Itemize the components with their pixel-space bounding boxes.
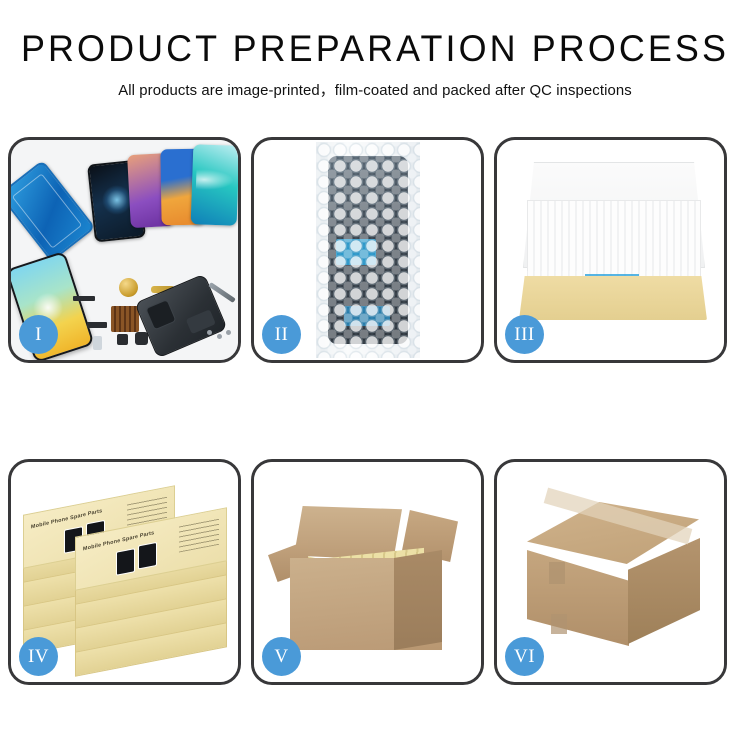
process-step-panel-3: III xyxy=(494,137,727,363)
carton-front-face xyxy=(290,558,394,650)
phone-screen-blue xyxy=(11,160,96,262)
process-step-panel-5: V xyxy=(251,459,484,685)
process-step-panel-1: I xyxy=(8,137,241,363)
carton-seam-lower xyxy=(551,614,567,634)
step-badge-3: III xyxy=(505,315,544,354)
part-sim-tray xyxy=(93,336,102,350)
process-steps-grid: I II III xyxy=(8,137,742,685)
page-subtitle: All products are image-printed，film-coat… xyxy=(8,78,743,100)
part-chip-array xyxy=(111,306,139,332)
phone-screen-teal xyxy=(191,144,238,226)
part-vibration-motor xyxy=(119,278,138,297)
step-badge-4: IV xyxy=(19,637,58,676)
page-title: PRODUCT PREPARATION PROCESS xyxy=(11,30,739,69)
box-spec-lines xyxy=(179,517,219,553)
part-small-strip xyxy=(87,322,107,328)
part-connector xyxy=(73,296,95,301)
bubble-texture-back xyxy=(316,142,420,358)
kraft-box-tray xyxy=(519,276,707,320)
carton-seam-upper xyxy=(549,562,565,584)
foam-padding xyxy=(527,200,701,282)
process-step-panel-6: VI xyxy=(494,459,727,685)
step-badge-5: V xyxy=(262,637,301,676)
part-camera-module xyxy=(135,332,148,345)
process-step-panel-4: Mobile Phone Spare Parts Mobile Phone Sp… xyxy=(8,459,241,685)
part-screws xyxy=(207,330,233,344)
step-badge-1: I xyxy=(19,315,58,354)
carton-side-face xyxy=(394,550,442,650)
step-badge-6: VI xyxy=(505,637,544,676)
page-header: PRODUCT PREPARATION PROCESS All products… xyxy=(0,0,750,100)
bubble-wrap-bag xyxy=(316,142,420,358)
part-button xyxy=(117,334,128,345)
box-product-thumbnail xyxy=(116,548,135,576)
sealed-carton-front xyxy=(527,550,629,646)
box-product-thumbnail xyxy=(138,542,157,570)
step-badge-2: II xyxy=(262,315,301,354)
process-step-panel-2: II xyxy=(251,137,484,363)
